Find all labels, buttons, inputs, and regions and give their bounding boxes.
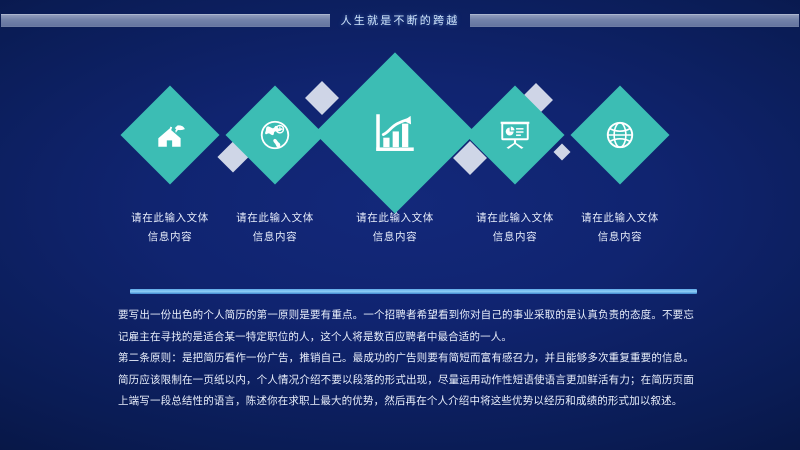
caption-5-line2: 信息内容 (545, 228, 695, 247)
caption-5-line1: 请在此输入文体 (581, 212, 659, 224)
slide-root: 人生就是不断的跨越 (0, 0, 800, 450)
body-text-block: 要写出一份出色的个人简历的第一原则是要有重点。一个招聘者希望看到你对自己的事业采… (118, 305, 694, 413)
body-paragraph-2: 第二条原则：是把简历看作一份广告，推销自己。最成功的广告则要有简短而富有感召力，… (118, 348, 694, 413)
caption-5: 请在此输入文体 信息内容 (545, 209, 695, 247)
section-divider (130, 289, 697, 294)
globe-grid-icon (603, 118, 637, 152)
eco-house-icon (153, 118, 187, 152)
slide-header: 人生就是不断的跨越 (0, 12, 800, 28)
bar-chart-growth-icon (370, 108, 420, 158)
mini-diamond-5 (554, 144, 571, 161)
presentation-board-icon (498, 118, 532, 152)
caption-row: 请在此输入文体 信息内容 请在此输入文体 信息内容 请在此输入文体 信息内容 请… (0, 205, 800, 265)
diamond-item-1[interactable] (121, 86, 220, 185)
header-decoration-bar-left (1, 14, 330, 27)
caption-1-line1: 请在此输入文体 (131, 212, 209, 224)
mini-diamond-2 (305, 81, 339, 115)
header-decoration-bar-right (470, 14, 799, 27)
caption-2-line1: 请在此输入文体 (236, 212, 314, 224)
diamond-item-5[interactable] (571, 86, 670, 185)
slide-title: 人生就是不断的跨越 (341, 12, 460, 28)
earth-globe-icon (258, 118, 292, 152)
diamond-item-3[interactable] (314, 52, 475, 213)
caption-3-line1: 请在此输入文体 (356, 212, 434, 224)
diamond-icon-row (0, 62, 800, 212)
body-paragraph-1: 要写出一份出色的个人简历的第一原则是要有重点。一个招聘者希望看到你对自己的事业采… (118, 305, 694, 348)
caption-4-line1: 请在此输入文体 (476, 212, 554, 224)
